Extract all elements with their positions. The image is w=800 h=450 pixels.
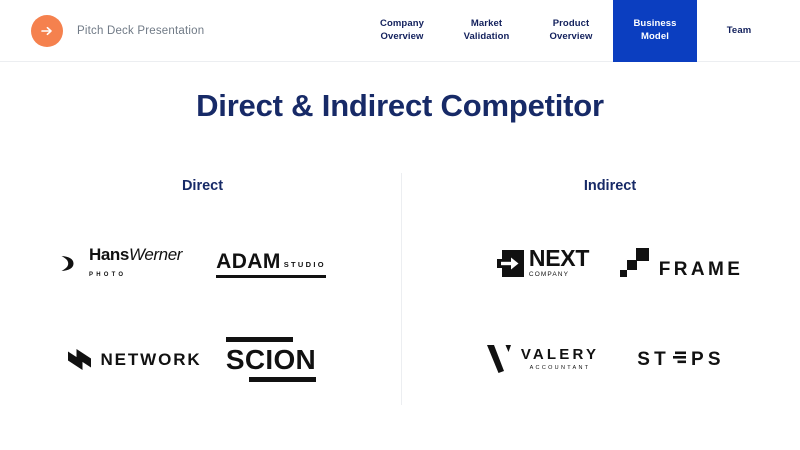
valery-name: VALERY <box>521 347 599 362</box>
column-heading-indirect: Indirect <box>525 178 695 194</box>
scion-wordmark: SCION <box>226 346 316 374</box>
nav-item-team[interactable]: Team <box>697 0 781 62</box>
next-wordmark: NEXT COMPANY <box>529 247 589 279</box>
logo-scion: SCION <box>196 332 346 386</box>
adam-name: ADAM <box>216 251 281 272</box>
valery-sub: ACCOUNTANT <box>521 366 599 372</box>
logo-hanswerner: HansWerner PHOTO <box>60 236 210 290</box>
nav-item-business-model[interactable]: Business Model <box>613 0 697 62</box>
next-sub: COMPANY <box>529 272 589 279</box>
main-nav: Company Overview Market Validation Produ… <box>360 0 781 62</box>
page-title: Direct & Indirect Competitor <box>0 88 800 124</box>
frame-wordmark: FRAME <box>659 260 744 280</box>
steps-suffix: PS <box>691 350 725 369</box>
crescent-mark-icon <box>60 254 89 273</box>
brand: Pitch Deck Presentation <box>31 14 204 48</box>
logo-next-company: NEXT COMPANY <box>468 236 618 290</box>
hanswerner-name-italic: Werner <box>129 245 182 264</box>
scion-bottom-rule <box>249 377 316 382</box>
nav-item-market-validation[interactable]: Market Validation <box>444 0 529 62</box>
valery-wordmark: VALERY ACCOUNTANT <box>521 347 599 372</box>
steps-prefix: ST <box>637 350 670 369</box>
hanswerner-name-bold: Hans <box>89 245 129 264</box>
logo-network: NETWORK <box>60 332 210 386</box>
square-arrow-right-icon <box>497 250 529 277</box>
logo-frame: FRAME <box>606 236 756 290</box>
arrow-right-circle-icon[interactable] <box>31 15 63 47</box>
network-wordmark: NETWORK <box>100 351 201 368</box>
column-divider <box>401 173 402 405</box>
logo-valery: VALERY ACCOUNTANT <box>468 332 618 386</box>
nav-item-company-overview[interactable]: Company Overview <box>360 0 444 62</box>
hanswerner-tagline: PHOTO <box>89 272 126 278</box>
nav-item-product-overview[interactable]: Product Overview <box>529 0 613 62</box>
deck-title: Pitch Deck Presentation <box>77 25 204 37</box>
diagonal-bars-n-icon <box>68 348 100 371</box>
adam-sub: STUDIO <box>284 260 326 269</box>
logo-adam-studio: ADAM STUDIO <box>196 236 346 290</box>
stacked-squares-icon <box>619 246 659 280</box>
hanswerner-wordmark: HansWerner PHOTO <box>89 246 210 280</box>
scion-top-rule <box>226 337 293 342</box>
adam-underline <box>216 275 326 278</box>
column-heading-direct: Direct <box>120 178 285 194</box>
next-name: NEXT <box>529 247 589 270</box>
v-checkmark-icon <box>487 344 521 374</box>
logo-steps: ST PS <box>606 332 756 386</box>
staircase-e-icon <box>671 349 686 370</box>
app-header: Pitch Deck Presentation Company Overview… <box>0 0 800 62</box>
